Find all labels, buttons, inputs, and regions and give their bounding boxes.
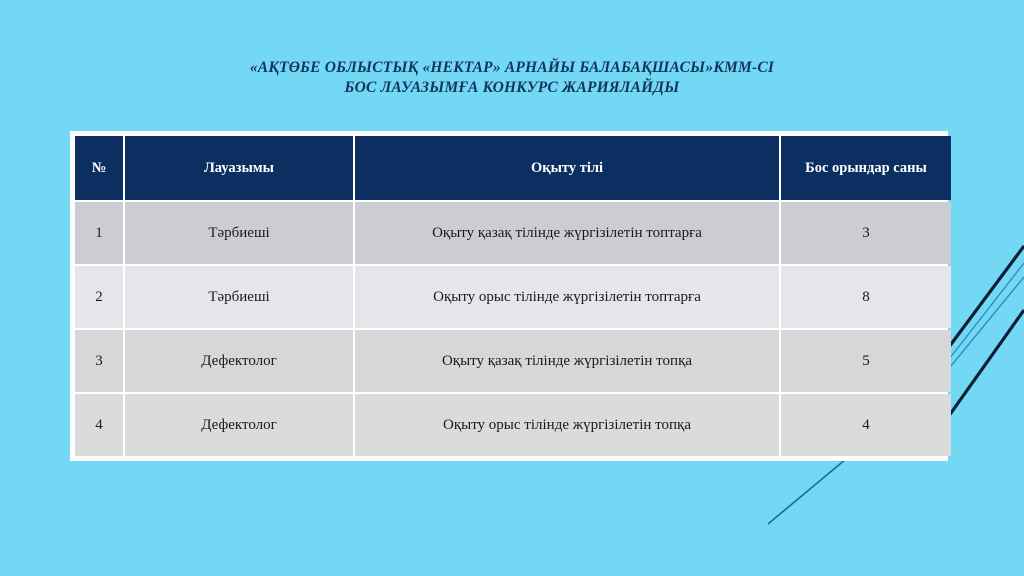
column-header-position: Лауазымы [125,136,353,200]
table-row: 3 Дефектолог Оқыту қазақ тілінде жүргізі… [75,330,951,392]
table-header-row: № Лауазымы Оқыту тілі Бос орындар саны [75,136,951,200]
thin-line-middle-icon [946,277,1024,372]
cell-position: Тәрбиеші [125,266,353,328]
cell-position: Тәрбиеші [125,202,353,264]
cell-count: 4 [781,394,951,456]
vacancy-table-container: № Лауазымы Оқыту тілі Бос орындар саны 1… [70,131,948,461]
column-header-count: Бос орындар саны [781,136,951,200]
cell-count: 8 [781,266,951,328]
table-row: 1 Тәрбиеші Оқыту қазақ тілінде жүргізіле… [75,202,951,264]
cell-number: 4 [75,394,123,456]
thin-line-bottom-icon [768,454,852,524]
cell-language: Оқыту орыс тілінде жүргізілетін топтарға [355,266,779,328]
cell-position: Дефектолог [125,394,353,456]
slide-title: «АҚТӨБЕ ОБЛЫСТЫҚ «НЕКТАР» АРНАЙЫ БАЛАБАҚ… [0,58,1024,99]
cell-language: Оқыту қазақ тілінде жүргізілетін топқа [355,330,779,392]
vacancy-table: № Лауазымы Оқыту тілі Бос орындар саны 1… [73,134,953,458]
table-row: 2 Тәрбиеші Оқыту орыс тілінде жүргізілет… [75,266,951,328]
title-line-2: БОС ЛАУАЗЫМҒА КОНКУРС ЖАРИЯЛАЙДЫ [0,78,1024,98]
cell-count: 5 [781,330,951,392]
slide-canvas: «АҚТӨБЕ ОБЛЫСТЫҚ «НЕКТАР» АРНАЙЫ БАЛАБАҚ… [0,0,1024,576]
cell-language: Оқыту орыс тілінде жүргізілетін топқа [355,394,779,456]
cell-count: 3 [781,202,951,264]
table-header: № Лауазымы Оқыту тілі Бос орындар саны [75,136,951,200]
cell-language: Оқыту қазақ тілінде жүргізілетін топтарғ… [355,202,779,264]
thick-line-lower-icon [946,310,1024,420]
title-line-1: «АҚТӨБЕ ОБЛЫСТЫҚ «НЕКТАР» АРНАЙЫ БАЛАБАҚ… [0,58,1024,78]
thick-line-upper-icon [946,246,1024,351]
column-header-language: Оқыту тілі [355,136,779,200]
table-row: 4 Дефектолог Оқыту орыс тілінде жүргізіл… [75,394,951,456]
cell-number: 2 [75,266,123,328]
cell-number: 3 [75,330,123,392]
table-body: 1 Тәрбиеші Оқыту қазақ тілінде жүргізіле… [75,202,951,456]
cell-position: Дефектолог [125,330,353,392]
thin-line-upper-icon [946,263,1024,363]
column-header-number: № [75,136,123,200]
cell-number: 1 [75,202,123,264]
